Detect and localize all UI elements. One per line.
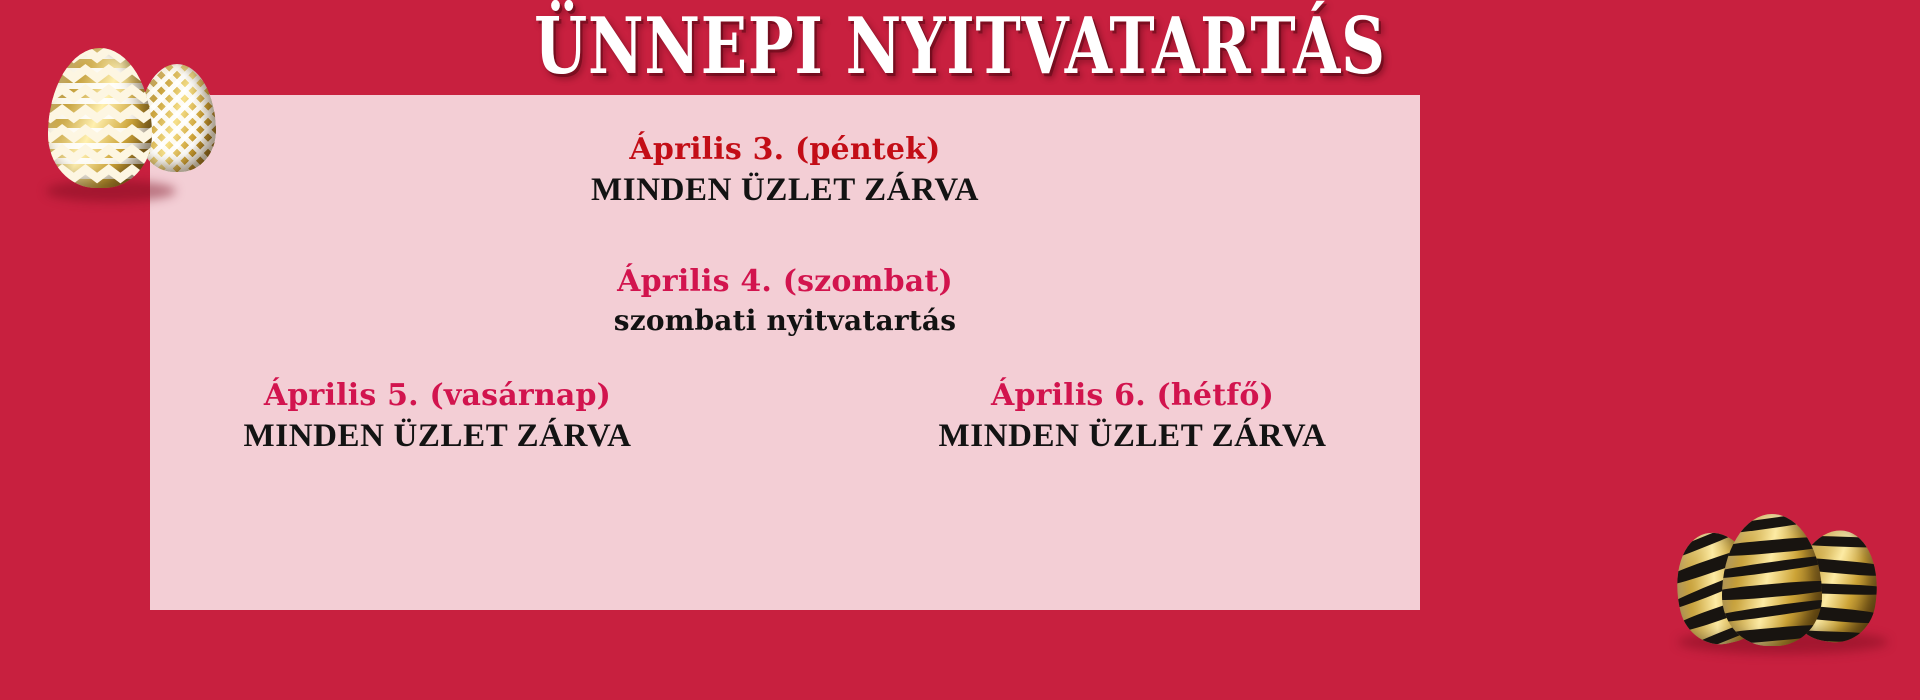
page-title: ÜNNEPI NYITVATARTÁS bbox=[534, 2, 1386, 92]
schedule-date-sunday: Április 5. (vasárnap) bbox=[150, 377, 725, 415]
schedule-date-saturday: Április 4. (szombat) bbox=[150, 263, 1420, 301]
easter-egg-chevron-pattern bbox=[48, 48, 152, 188]
schedule-status-monday: MINDEN ÜZLET ZÁRVA bbox=[845, 415, 1420, 457]
schedule-entry-friday: Április 3. (péntek) MINDEN ÜZLET ZÁRVA bbox=[150, 131, 1420, 211]
schedule-entry-saturday: Április 4. (szombat) szombati nyitvatart… bbox=[150, 263, 1420, 341]
schedule-row-weekend: Április 5. (vasárnap) MINDEN ÜZLET ZÁRVA… bbox=[150, 377, 1420, 457]
schedule-entry-sunday: Április 5. (vasárnap) MINDEN ÜZLET ZÁRVA bbox=[150, 377, 785, 457]
easter-egg-striped-center-icon bbox=[1722, 514, 1822, 646]
schedule-entry-monday: Április 6. (hétfő) MINDEN ÜZLET ZÁRVA bbox=[785, 377, 1420, 457]
schedule-status-friday: MINDEN ÜZLET ZÁRVA bbox=[150, 169, 1420, 211]
schedule-date-friday: Április 3. (péntek) bbox=[150, 131, 1420, 169]
easter-eggs-top-left bbox=[40, 38, 260, 208]
schedule-status-saturday: szombati nyitvatartás bbox=[150, 301, 1420, 341]
easter-eggs-bottom-right bbox=[1660, 508, 1910, 648]
schedule-date-monday: Április 6. (hétfő) bbox=[845, 377, 1420, 415]
holiday-opening-hours-banner: ÜNNEPI NYITVATARTÁS Április 3. (péntek) … bbox=[0, 0, 1920, 700]
banner-title-wrap: ÜNNEPI NYITVATARTÁS bbox=[0, 2, 1920, 92]
schedule-status-sunday: MINDEN ÜZLET ZÁRVA bbox=[150, 415, 725, 457]
schedule-list: Április 3. (péntek) MINDEN ÜZLET ZÁRVA Á… bbox=[150, 95, 1420, 610]
